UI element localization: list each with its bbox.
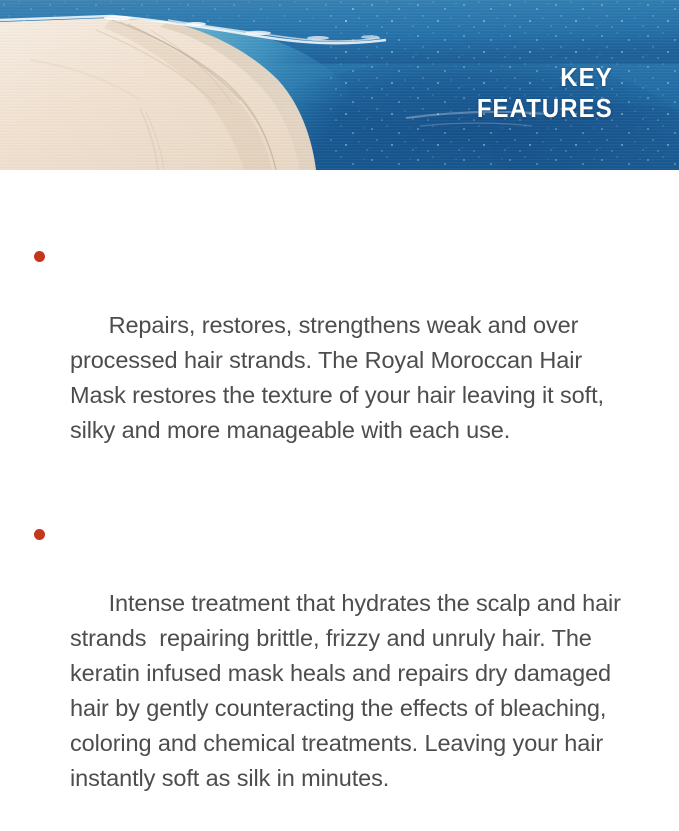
list-item: Repairs, restores, strengthens weak and …: [0, 238, 679, 483]
feature-text: Intense treatment that hydrates the scal…: [70, 590, 627, 791]
bullet-dot-icon: [34, 529, 45, 540]
list-item: Intense treatment that hydrates the scal…: [0, 516, 679, 831]
hero-title: KEY FEATURES: [477, 62, 613, 124]
hero-banner: KEY FEATURES: [0, 0, 679, 170]
hero-title-line-1: KEY: [477, 62, 613, 93]
feature-text: Repairs, restores, strengthens weak and …: [70, 312, 610, 443]
feature-list: Repairs, restores, strengthens weak and …: [0, 238, 679, 831]
features-content: Repairs, restores, strengthens weak and …: [0, 238, 679, 831]
bullet-dot-icon: [34, 251, 45, 262]
hero-title-line-2: FEATURES: [477, 93, 613, 124]
